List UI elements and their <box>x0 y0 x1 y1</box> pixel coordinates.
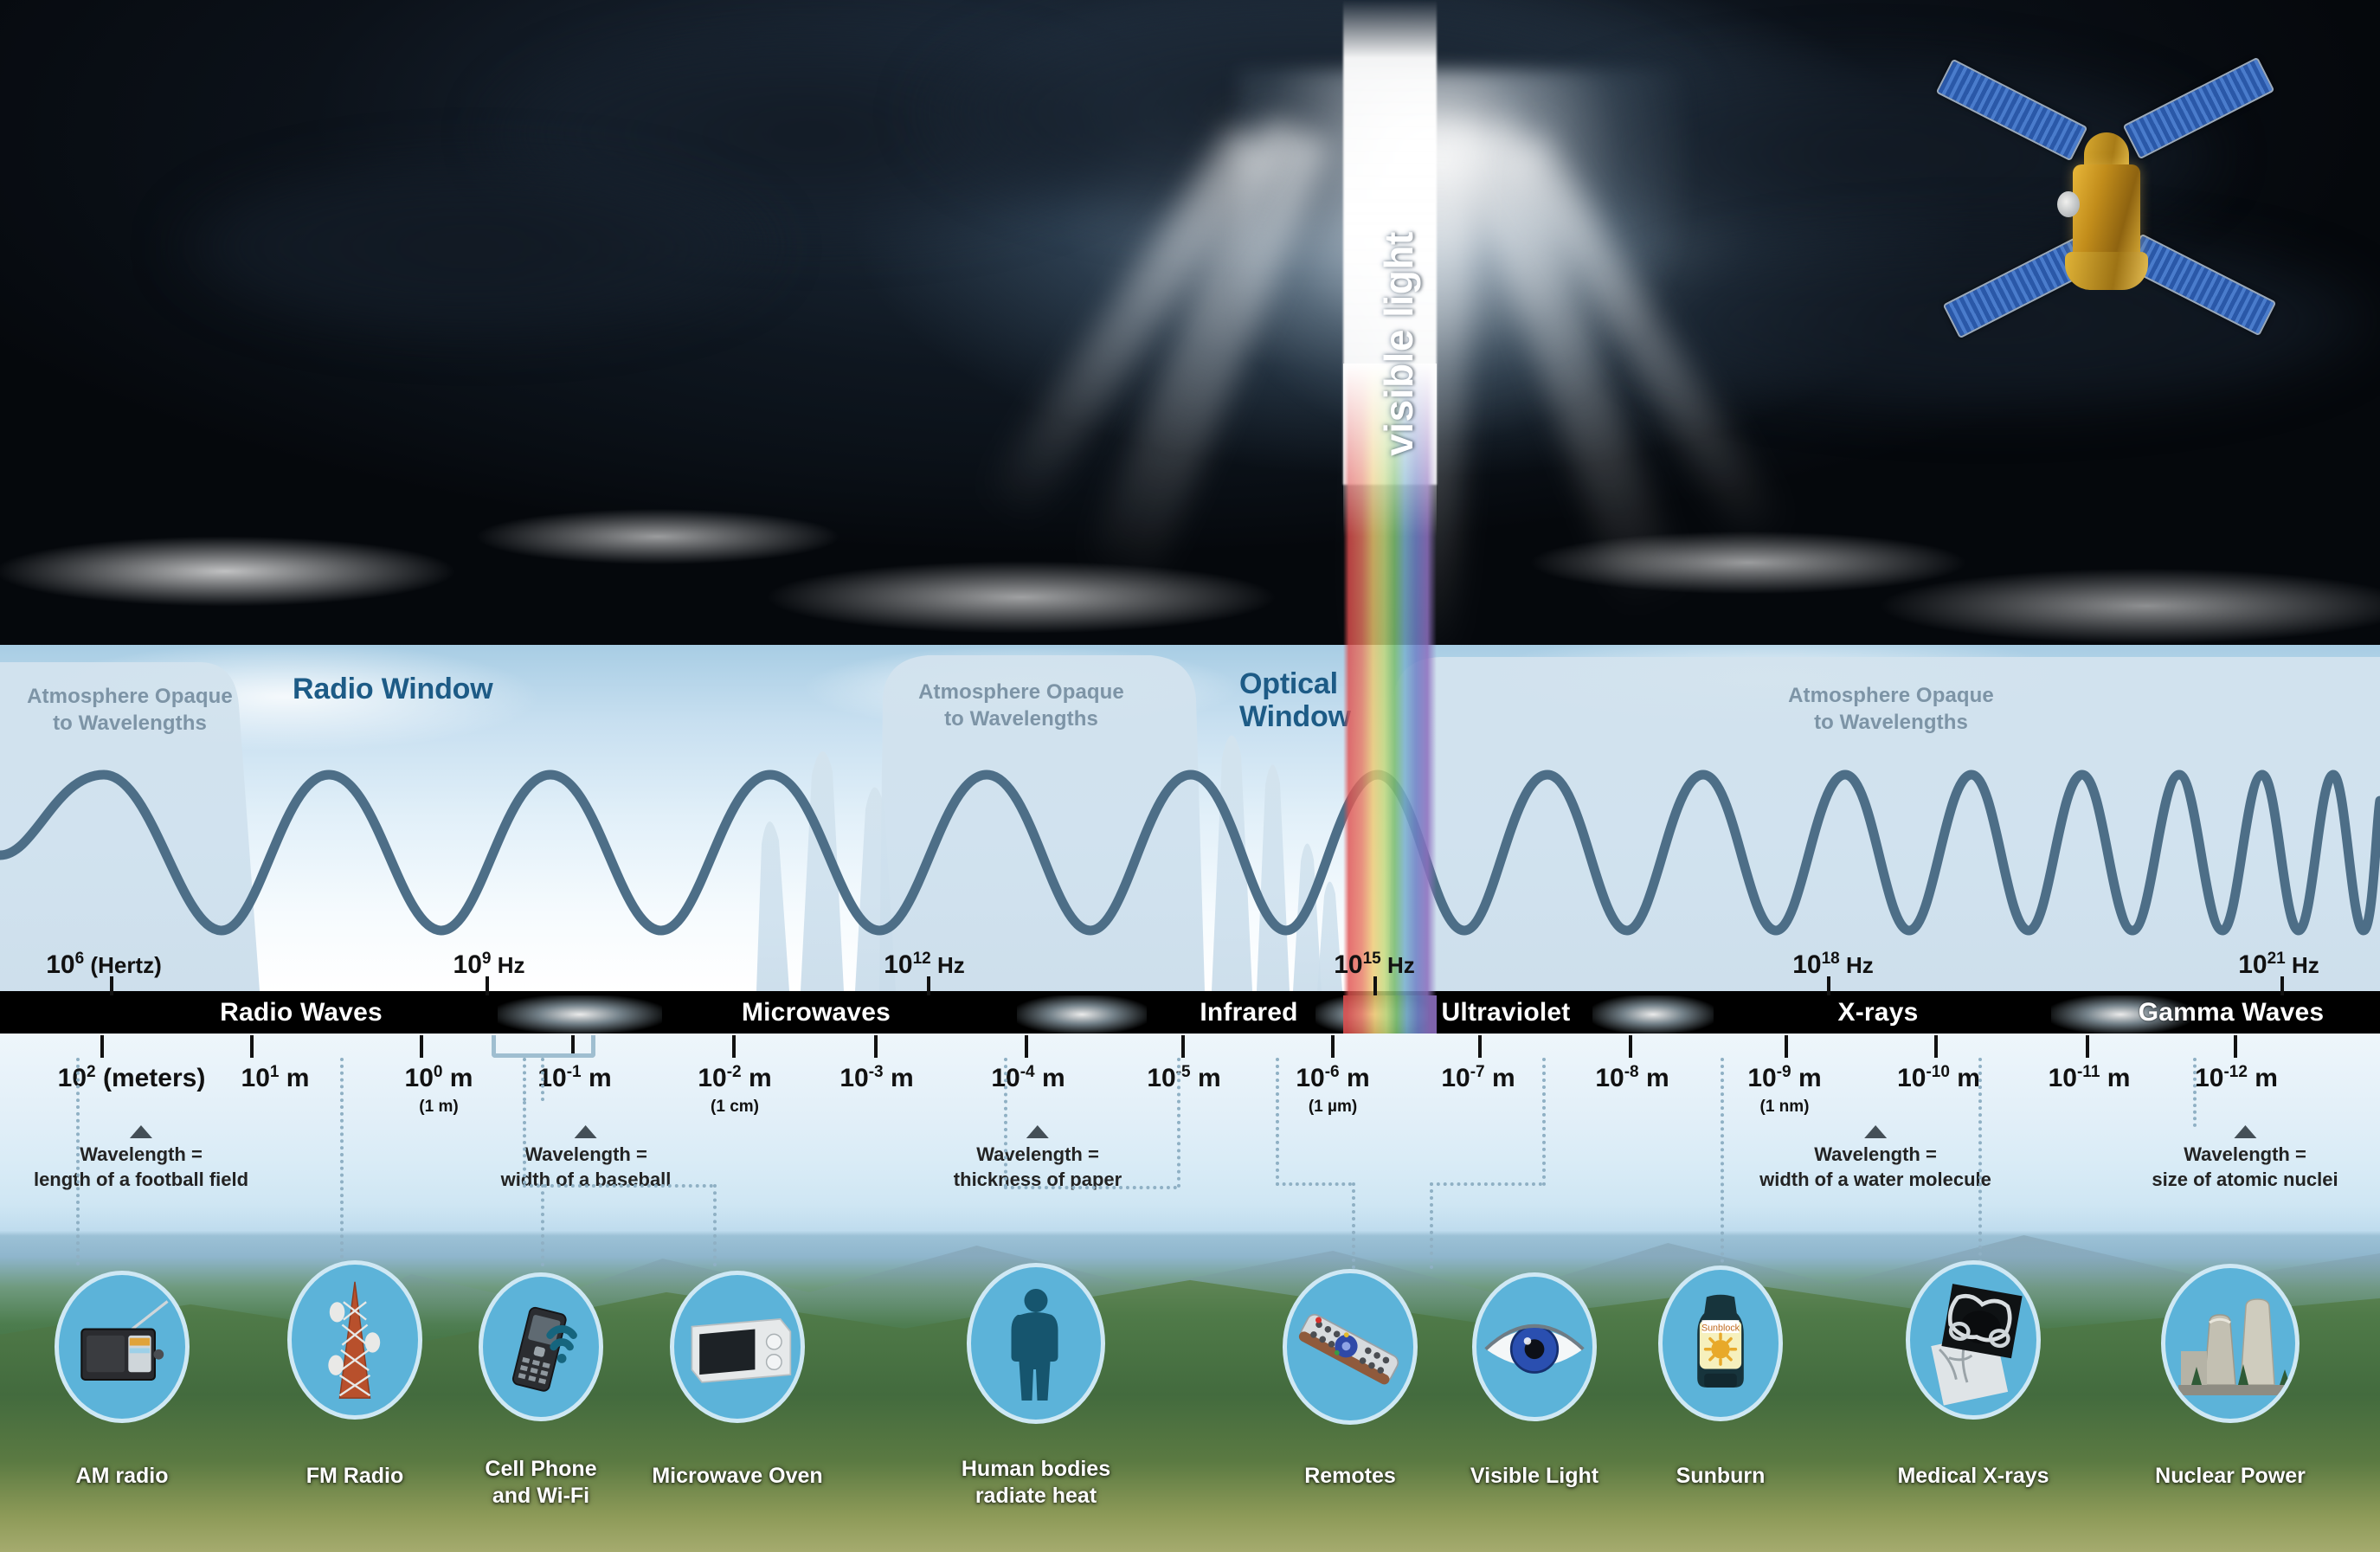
freq-tick-mark <box>2280 976 2284 997</box>
leader-line <box>523 1184 713 1188</box>
leader-line <box>713 1184 717 1266</box>
wl-tick-mark <box>1331 1035 1335 1058</box>
freq-tick-mark <box>486 976 489 997</box>
icon-microwave-oven[interactable] <box>670 1271 805 1423</box>
wl-label: 10-9 m <box>1747 1063 1821 1093</box>
annotation-baseball: Wavelength = width of a baseball <box>501 1125 672 1192</box>
leader-line <box>1430 1182 1433 1269</box>
radio-tower-icon <box>292 1265 418 1415</box>
wl-sublabel: (1 cm) <box>711 1098 759 1117</box>
wl-label: 10-6 m <box>1296 1063 1369 1093</box>
wl-label: 102 (meters) <box>58 1063 206 1093</box>
icon-human-body[interactable] <box>967 1263 1105 1424</box>
caption-line2: radiate heat <box>975 1484 1097 1508</box>
wl-label: 10-5 m <box>1147 1063 1220 1093</box>
wl-tick-mark <box>250 1035 254 1058</box>
leader-line <box>541 1184 544 1266</box>
radio-icon <box>59 1275 185 1419</box>
caret-icon <box>2234 1125 2256 1138</box>
wl-tick-mark <box>2086 1035 2089 1058</box>
wl-label: 10-4 m <box>991 1063 1065 1093</box>
annotation-water-molecule: Wavelength = width of a water molecule <box>1759 1125 1991 1192</box>
icon-visible-light[interactable] <box>1472 1272 1597 1421</box>
freq-tick-mark <box>1373 976 1377 997</box>
freq-tick-mark <box>1827 976 1830 997</box>
caption-sunburn: Sunburn <box>1676 1463 1766 1490</box>
band-label-xrays: X-rays <box>1838 998 1919 1027</box>
wl-label: 100 m <box>405 1063 473 1093</box>
wl-tick-mark <box>420 1035 423 1058</box>
icon-sunburn[interactable]: Sunblock <box>1658 1265 1783 1421</box>
remote-control-icon <box>1287 1273 1413 1420</box>
annotation-line1: Wavelength = <box>2184 1143 2306 1165</box>
caption-am-radio: AM radio <box>76 1463 169 1490</box>
leader-line <box>523 1101 526 1184</box>
band-transition-glow <box>1592 995 1714 1034</box>
wl-tick-mark <box>1785 1035 1788 1058</box>
leader-line <box>340 1058 344 1265</box>
visible-light-label: visible light <box>1375 84 1422 603</box>
band-label-gamma-waves: Gamma Waves <box>2139 998 2325 1027</box>
annotation-line2: width of a water molecule <box>1759 1169 1991 1190</box>
leader-line <box>1978 1058 1982 1270</box>
human-body-icon <box>971 1267 1101 1420</box>
freq-tick-mark <box>110 976 113 997</box>
caret-icon <box>1864 1125 1887 1138</box>
optical-window-line2: Window <box>1239 700 1351 733</box>
wl-label: 10-2 m <box>698 1063 771 1093</box>
wl-tick-mark <box>100 1035 104 1058</box>
atmosphere-opacity-chart: Atmosphere Opaque to Wavelengths Atmosph… <box>0 645 2380 991</box>
wl-tick-mark <box>1478 1035 1482 1058</box>
band-label-microwaves: Microwaves <box>742 998 891 1027</box>
satellite-base <box>2065 252 2148 290</box>
wl-label: 10-12 m <box>2195 1063 2278 1093</box>
leader-line <box>541 1058 544 1101</box>
wl-label: 10-11 m <box>2049 1063 2131 1093</box>
icon-fm-radio[interactable] <box>287 1260 422 1420</box>
annotation-football-field: Wavelength = length of a football field <box>34 1125 248 1192</box>
wl-sublabel: (1 µm) <box>1309 1098 1357 1117</box>
wl-tick-mark <box>732 1035 736 1058</box>
leader-line <box>1430 1182 1542 1186</box>
eye-icon <box>1476 1277 1592 1417</box>
annotation-line2: length of a football field <box>34 1169 248 1190</box>
svg-text:Sunblock: Sunblock <box>1701 1323 1740 1333</box>
leader-line <box>76 1058 80 1265</box>
leader-line <box>2193 1058 2197 1127</box>
opaque-label-line2: to Wavelengths <box>944 707 1098 731</box>
leader-line <box>1352 1182 1355 1269</box>
optical-window-label: Optical Window <box>1239 667 1351 733</box>
leader-line <box>1721 1058 1724 1270</box>
caption-medical-xrays: Medical X-rays <box>1897 1463 2049 1490</box>
xray-icon <box>1910 1265 2036 1415</box>
band-label-infrared: Infrared <box>1200 998 1297 1027</box>
leader-line <box>1276 1182 1352 1186</box>
annotation-paper: Wavelength = thickness of paper <box>954 1125 1122 1192</box>
leader-line <box>1004 1058 1007 1188</box>
annotation-atomic-nuclei: Wavelength = size of atomic nuclei <box>2152 1125 2338 1192</box>
caption-human-body: Human bodies radiate heat <box>962 1456 1110 1509</box>
caption-microwave-oven: Microwave Oven <box>652 1463 822 1490</box>
caption-visible-light: Visible Light <box>1470 1463 1598 1490</box>
wl-tick-mark <box>2234 1035 2237 1058</box>
caption-fm-radio: FM Radio <box>306 1463 404 1490</box>
dark-cloud <box>173 156 779 338</box>
fm-band-bracket <box>492 1035 595 1058</box>
band-transition-glow <box>498 995 662 1034</box>
sunblock-icon: Sunblock <box>1663 1270 1779 1417</box>
leader-line <box>523 1058 526 1101</box>
radio-window-text: Radio Window <box>293 673 492 705</box>
opaque-label-line2: to Wavelengths <box>1814 711 1968 734</box>
leader-line <box>1004 1186 1177 1189</box>
wl-sublabel: (1 nm) <box>1760 1098 1810 1117</box>
caption-remotes: Remotes <box>1304 1463 1396 1490</box>
icon-am-radio[interactable] <box>55 1271 190 1423</box>
caption-line2: and Wi-Fi <box>492 1484 589 1508</box>
freq-tick-label: 1018 Hz <box>1792 950 1874 980</box>
electromagnetic-spectrum-infographic: Atmosphere Opaque to Wavelengths Atmosph… <box>0 0 2380 1552</box>
wl-tick-mark <box>1025 1035 1028 1058</box>
band-transition-glow <box>1017 995 1147 1034</box>
radio-window-label: Radio Window <box>293 673 492 705</box>
freq-tick-label: 106 (Hertz) <box>46 950 162 980</box>
opaque-label-line1: Atmosphere Opaque <box>918 680 1124 704</box>
opaque-label-line1: Atmosphere Opaque <box>27 685 233 708</box>
solar-panel <box>2125 234 2277 337</box>
wl-sublabel: (1 m) <box>419 1098 458 1117</box>
opaque-label-left: Atmosphere Opaque to Wavelengths <box>26 684 234 737</box>
leader-line <box>1542 1058 1546 1186</box>
cellphone-wifi-icon <box>483 1277 599 1417</box>
caption-line1: Human bodies <box>962 1457 1110 1481</box>
freq-tick-label: 1021 Hz <box>2238 950 2319 980</box>
wl-label: 10-1 m <box>537 1063 611 1093</box>
visible-light-band-stripe <box>1343 995 1437 1034</box>
freq-tick-label: 1012 Hz <box>884 950 965 980</box>
caret-icon <box>575 1125 597 1138</box>
wl-label: 10-7 m <box>1441 1063 1515 1093</box>
freq-tick-mark <box>927 976 930 997</box>
caret-icon <box>130 1125 152 1138</box>
opaque-label-middle: Atmosphere Opaque to Wavelengths <box>913 679 1129 732</box>
satellite-icon <box>1943 82 2272 333</box>
caption-nuclear-power: Nuclear Power <box>2155 1463 2306 1490</box>
optical-window-line1: Optical <box>1239 667 1338 700</box>
opaque-label-line1: Atmosphere Opaque <box>1788 684 1994 707</box>
annotation-line1: Wavelength = <box>1814 1143 1937 1165</box>
microwave-oven-icon <box>674 1275 801 1419</box>
wl-tick-mark <box>1629 1035 1632 1058</box>
annotation-line1: Wavelength = <box>80 1143 203 1165</box>
freq-tick-label: 1015 Hz <box>1334 950 1415 980</box>
caret-icon <box>1026 1125 1049 1138</box>
annotation-line1: Wavelength = <box>976 1143 1099 1165</box>
nuclear-plant-icon <box>2165 1268 2295 1419</box>
annotation-line2: size of atomic nuclei <box>2152 1169 2338 1190</box>
opaque-region-middle <box>756 821 789 991</box>
icon-nuclear-power[interactable] <box>2161 1264 2300 1423</box>
leader-line <box>1276 1058 1279 1186</box>
wl-label: 10-3 m <box>839 1063 913 1093</box>
icon-remotes[interactable] <box>1283 1269 1418 1425</box>
opaque-label-right: Atmosphere Opaque to Wavelengths <box>1783 683 1999 736</box>
wl-tick-mark <box>1934 1035 1938 1058</box>
caption-line1: Cell Phone <box>485 1457 596 1481</box>
icon-medical-xrays[interactable] <box>1906 1260 2041 1420</box>
band-label-ultraviolet: Ultraviolet <box>1442 998 1571 1027</box>
wl-tick-mark <box>1181 1035 1185 1058</box>
opaque-region-middle <box>1257 764 1290 991</box>
leader-line <box>1177 1058 1180 1188</box>
satellite-dish <box>2057 191 2080 217</box>
caption-cell-phone: Cell Phone and Wi-Fi <box>485 1456 596 1509</box>
wl-tick-mark <box>874 1035 878 1058</box>
annotation-line1: Wavelength = <box>524 1143 647 1165</box>
wl-label: 101 m <box>241 1063 310 1093</box>
opaque-label-line2: to Wavelengths <box>53 712 207 735</box>
icon-cell-phone[interactable] <box>479 1272 603 1421</box>
band-label-radio-waves: Radio Waves <box>220 998 383 1027</box>
freq-tick-label: 109 Hz <box>453 950 525 980</box>
wl-label: 10-10 m <box>1897 1063 1980 1093</box>
wl-label: 10-8 m <box>1595 1063 1669 1093</box>
